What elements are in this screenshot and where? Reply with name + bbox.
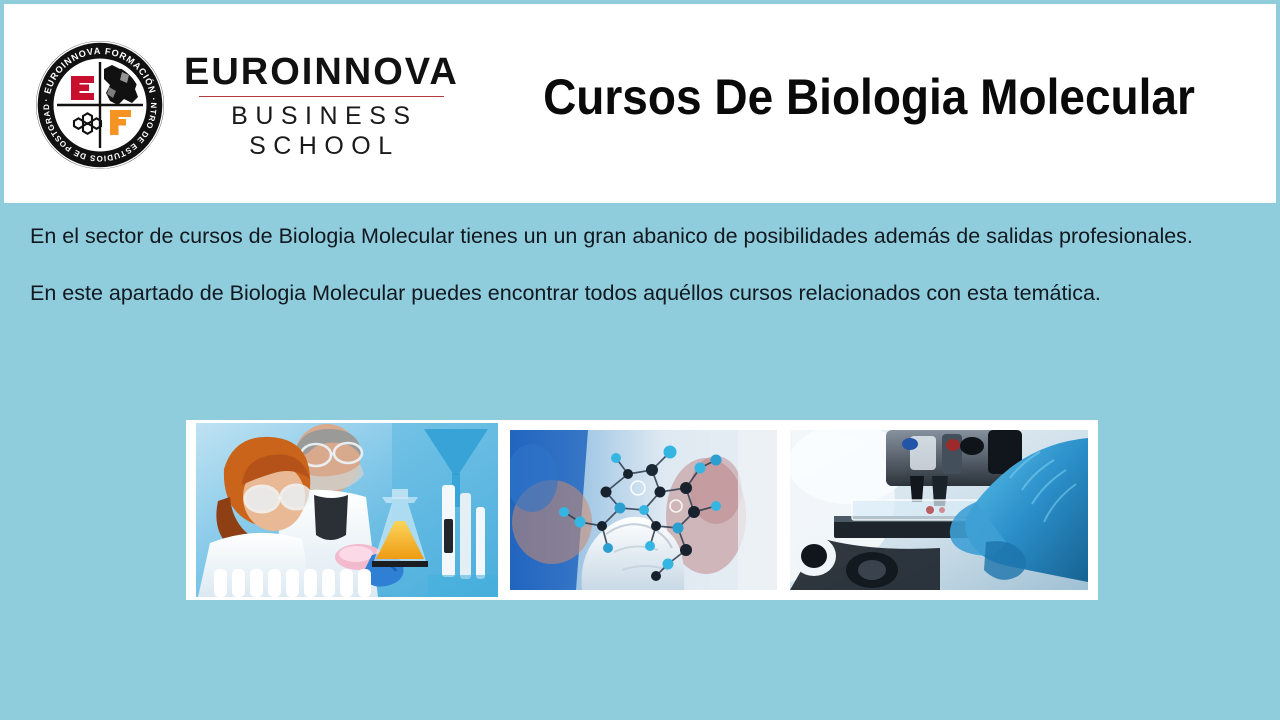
euroinnova-wordmark: EUROINNOVA BUSINESS SCHOOL (184, 49, 459, 162)
microscope-slide-photo (790, 430, 1088, 590)
paragraph-section: En este apartado de Biologia Molecular p… (30, 279, 1250, 307)
wordmark-divider-rule (199, 96, 444, 97)
paragraph-intro: En el sector de cursos de Biologia Molec… (30, 222, 1250, 250)
page-title: Cursos De Biologia Molecular (506, 70, 1233, 125)
wordmark-business: BUSINESS (225, 102, 417, 132)
lab-scientists-photo (196, 423, 498, 597)
wordmark-euroinnova: EUROINNOVA (184, 53, 459, 93)
euroinnova-circular-emblem-icon: · EUROINNOVA FORMACIÓN · CENTRO DE ESTUD… (34, 39, 166, 171)
header-band: · EUROINNOVA FORMACIÓN · CENTRO DE ESTUD… (4, 4, 1276, 203)
wordmark-school: SCHOOL (243, 132, 400, 162)
body-copy: En el sector de cursos de Biologia Molec… (30, 222, 1250, 308)
euroinnova-logo: · EUROINNOVA FORMACIÓN · CENTRO DE ESTUD… (34, 30, 454, 180)
slide: · EUROINNOVA FORMACIÓN · CENTRO DE ESTUD… (0, 0, 1280, 720)
gallery-frame (186, 420, 1098, 600)
molecule-model-photo (510, 430, 777, 590)
